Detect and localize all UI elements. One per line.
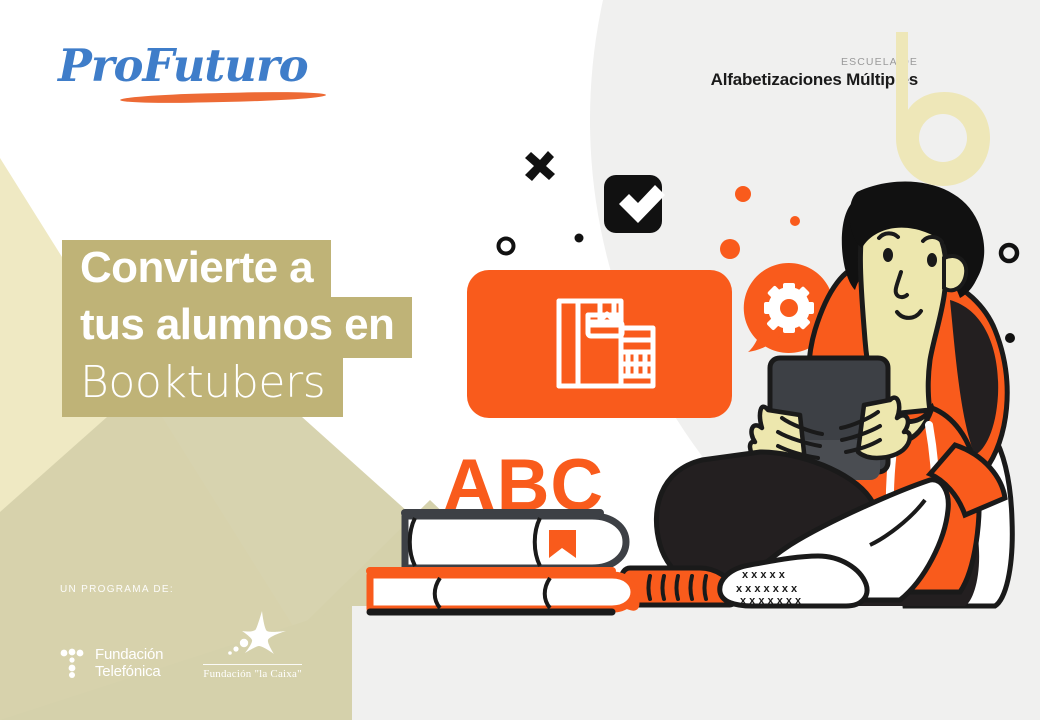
school-eyebrow: ESCUELA DE <box>578 56 918 69</box>
telefonica-word-line-2: Telefónica <box>95 663 163 680</box>
telefonica-dots-icon <box>60 648 86 678</box>
small-ring-icon <box>1001 245 1017 261</box>
sparkle-x-icon <box>525 151 555 181</box>
school-name: Alfabetizaciones Múltiples <box>578 69 918 90</box>
poster-canvas: x x x x x x x x x x x x x x x x x x x AB… <box>0 0 1040 720</box>
caixa-wordmark: Fundación "la Caixa" <box>203 664 302 680</box>
headline-line-2: tus alumnos en <box>62 297 412 358</box>
svg-text:x x x x x x x: x x x x x x x <box>736 583 798 595</box>
caixa-star-icon <box>218 609 288 657</box>
orange-dot-icon <box>790 216 800 226</box>
headline-line-1: Convierte a <box>62 240 331 301</box>
small-dot-icon <box>575 234 584 243</box>
orange-dot-icon <box>720 239 740 259</box>
headline-block: Convierte a tus alumnos en Booktubers <box>62 240 412 417</box>
fundacion-la-caixa-logo: Fundación "la Caixa" <box>203 609 302 680</box>
orange-card-with-book-icon <box>467 270 732 418</box>
profuturo-logo: ProFuturo <box>58 38 358 110</box>
book-stack <box>370 513 636 612</box>
svg-text:x x x x x x x: x x x x x x x <box>740 595 802 607</box>
fundacion-telefonica-logo: Fundación Telefónica <box>60 646 163 680</box>
footer-partners: UN PROGRAMA DE: <box>60 584 302 680</box>
partner-logos: Fundación Telefónica Fundación "la Caixa… <box>60 609 302 680</box>
small-dot-icon <box>1005 333 1015 343</box>
svg-text:x x x x x: x x x x x <box>742 569 786 581</box>
profuturo-wordmark: ProFuturo <box>58 38 358 94</box>
program-label: UN PROGRAMA DE: <box>60 584 302 595</box>
small-ring-icon <box>499 239 514 254</box>
telefonica-word-line-1: Fundación <box>95 646 163 663</box>
telefonica-wordmark: Fundación Telefónica <box>95 646 163 680</box>
headline-line-3: Booktubers <box>62 354 343 417</box>
orange-dot-icon <box>735 186 751 202</box>
black-checkbox-icon <box>604 175 665 233</box>
school-branding: ESCUELA DE Alfabetizaciones Múltiples <box>578 56 918 90</box>
